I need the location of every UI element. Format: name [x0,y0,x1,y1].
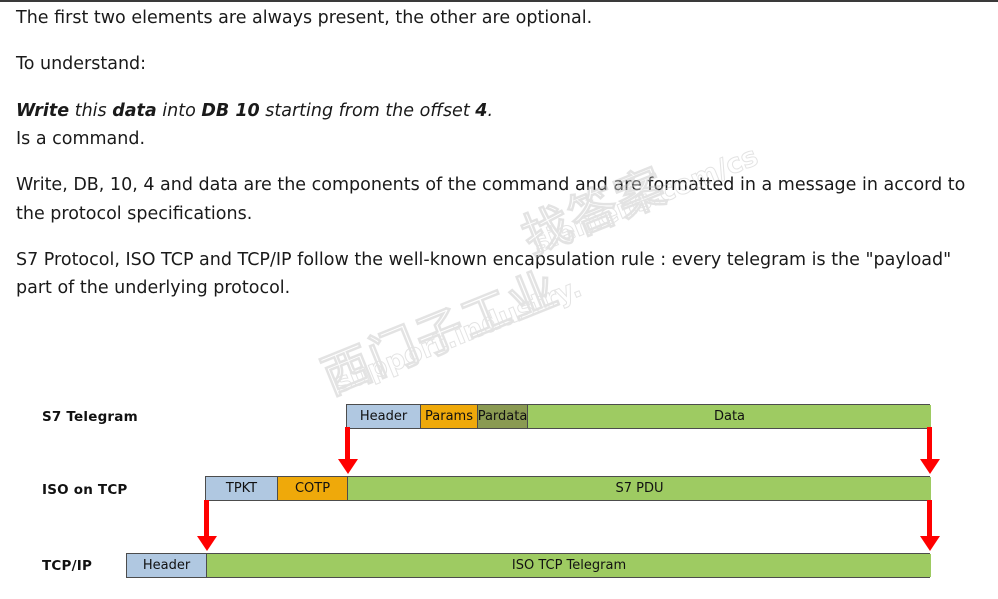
paragraph-to-understand: To understand: [16,50,976,78]
diagram-row-label-iso-on-tcp: ISO on TCP [42,482,128,498]
paragraph-intro: The first two elements are always presen… [16,4,976,32]
paragraph-command-example: Write this data into DB 10 starting from… [16,97,976,154]
diagram-bar-iso-on-tcp: TPKTCOTPS7 PDU [205,476,930,501]
segment-tpkt: TPKT [206,477,278,500]
segment-iso-tcp-telegram: ISO TCP Telegram [207,554,931,577]
text-is-a-command: Is a command. [16,129,145,149]
segment-header: Header [347,405,421,428]
arrow-s7-right-to-iso [927,427,932,459]
top-divider [0,0,998,2]
emph-offset-value: 4 [475,101,487,121]
segment-s7-pdu: S7 PDU [348,477,931,500]
diagram-bar-s7-telegram: HeaderParamsPardataData [346,404,930,429]
arrow-iso-left-to-tcpip [204,500,209,536]
arrow-head-s7-left-to-iso [338,459,358,474]
text-this: this [69,101,112,121]
emph-data: data [112,101,157,121]
text-into: into [157,101,202,121]
segment-params: Params [421,405,478,428]
paragraph-components: Write, DB, 10, 4 and data are the compon… [16,171,976,228]
segment-data: Data [528,405,931,428]
paragraph-encapsulation: S7 Protocol, ISO TCP and TCP/IP follow t… [16,246,976,303]
text-starting-offset: starting from the offset [260,101,476,121]
arrow-head-s7-right-to-iso [920,459,940,474]
emph-write: Write [16,101,69,121]
arrow-head-iso-left-to-tcpip [197,536,217,551]
text-period: . [487,101,493,121]
arrow-head-iso-right-to-tcpip [920,536,940,551]
encapsulation-diagram: S7 TelegramHeaderParamsPardataDataISO on… [0,390,998,599]
diagram-row-label-tcp-ip: TCP/IP [42,558,92,574]
emph-db10: DB 10 [201,101,259,121]
diagram-bar-tcp-ip: HeaderISO TCP Telegram [126,553,930,578]
diagram-row-label-s7-telegram: S7 Telegram [42,409,138,425]
segment-pardata: Pardata [478,405,528,428]
segment-cotp: COTP [278,477,348,500]
document-body: The first two elements are always presen… [16,4,976,321]
arrow-s7-left-to-iso [345,427,350,459]
segment-header: Header [127,554,207,577]
arrow-iso-right-to-tcpip [927,500,932,536]
